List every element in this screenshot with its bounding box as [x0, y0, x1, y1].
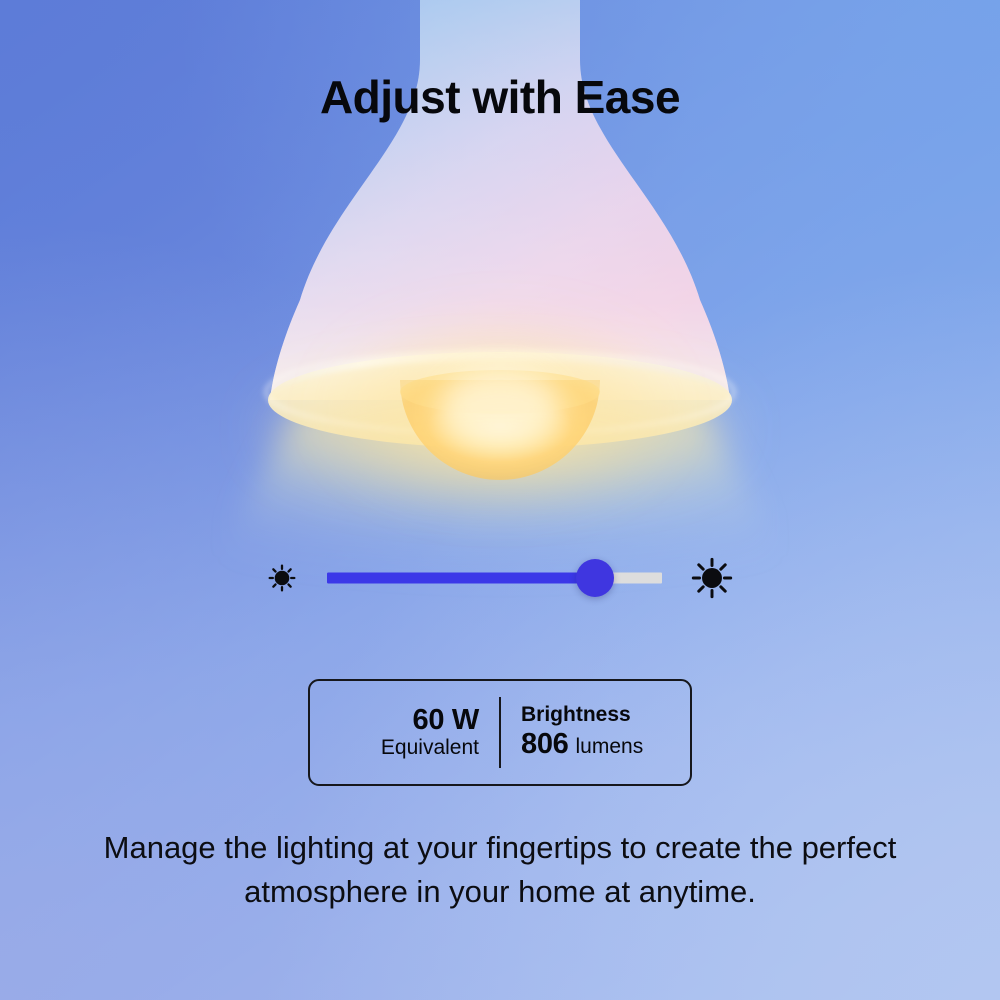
brightness-label: Brightness	[521, 703, 631, 728]
bulb-glow-bleed	[270, 370, 730, 490]
lumens-value: 806	[521, 728, 569, 761]
promo-banner: Adjust with Ease	[0, 0, 1000, 1000]
brightness-slider-row[interactable]	[265, 552, 735, 604]
slider-fill	[327, 573, 595, 584]
brightness-slider[interactable]	[327, 558, 662, 598]
spec-box: 60 W Equivalent Brightness 806 lumens	[308, 679, 692, 786]
slider-thumb[interactable]	[576, 559, 614, 597]
sun-dim-icon	[265, 561, 299, 595]
sun-bright-icon	[689, 555, 735, 601]
caption-text: Manage the lighting at your fingertips t…	[80, 826, 920, 914]
brightness-value-row: 806 lumens	[521, 728, 643, 761]
spec-wattage: 60 W Equivalent	[310, 681, 499, 784]
lumens-unit: lumens	[576, 735, 644, 759]
wattage-label: Equivalent	[381, 736, 479, 761]
page-title: Adjust with Ease	[0, 70, 1000, 124]
spec-brightness: Brightness 806 lumens	[501, 681, 690, 784]
wattage-value: 60 W	[413, 704, 480, 736]
